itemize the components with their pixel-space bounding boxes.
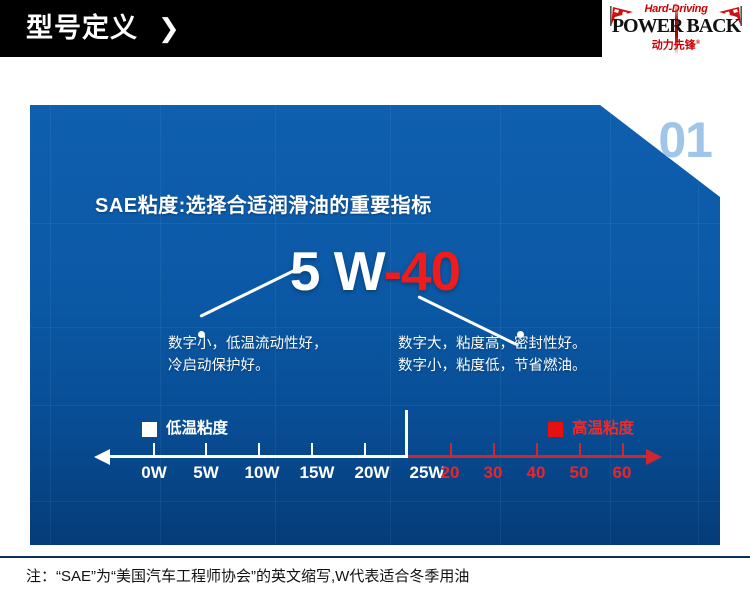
- axis-tick-label: 30: [484, 463, 503, 483]
- description-line: 冷启动保护好。: [168, 355, 328, 377]
- grid-line: [30, 405, 720, 406]
- logo-brand-name: POWER BACK: [602, 15, 750, 37]
- legend-label: 高温粘度: [572, 420, 634, 438]
- axis-tick: [579, 443, 581, 457]
- axis-tick-label: 40: [527, 463, 546, 483]
- description-low-temp: 数字小，低温流动性好， 冷启动保护好。: [168, 333, 328, 377]
- registered-mark-icon: ®: [696, 40, 700, 46]
- logo-tagline: Hard-Driving: [602, 3, 750, 15]
- arrow-left-icon: [94, 449, 110, 465]
- grid-line: [30, 327, 720, 328]
- panel-heading: SAE粘度:选择合适润滑油的重要指标: [95, 193, 432, 219]
- arrow-right-icon: [646, 449, 662, 465]
- brand-logo: Hard-Driving POWER BACK 动力先锋®: [602, 0, 750, 57]
- oil-grade-display: 5 W-40: [30, 240, 720, 302]
- axis-tick-label: 15W: [300, 463, 335, 483]
- legend-swatch-icon: [548, 422, 563, 437]
- logo-brand-name-cn: 动力先锋®: [602, 37, 750, 53]
- info-panel: 01 SAE粘度:选择合适润滑油的重要指标 5 W-40 数字小，低温流动性好，…: [30, 105, 720, 545]
- axis-tick: [536, 443, 538, 457]
- legend-swatch-icon: [142, 422, 157, 437]
- logo-brand-cn-text: 动力先锋: [652, 40, 696, 52]
- axis-tick-label: 20W: [355, 463, 390, 483]
- grade-hot-part: -40: [384, 240, 461, 302]
- legend-label: 低温粘度: [166, 420, 228, 438]
- legend-high-temp-viscosity: 高温粘度: [548, 420, 634, 438]
- axis-tick-label: 50: [570, 463, 589, 483]
- footer-note: 注：“SAE”为“美国汽车工程师协会”的英文缩写,W代表适合冬季用油: [26, 566, 469, 588]
- axis-tick-label: 60: [613, 463, 632, 483]
- axis-tick-label: 25W: [410, 463, 445, 483]
- section-number-watermark: 01: [658, 114, 712, 166]
- axis-tick: [450, 443, 452, 457]
- grid-line: [30, 501, 720, 502]
- axis-tick: [153, 443, 155, 457]
- axis-tick-label: 20: [441, 463, 460, 483]
- grade-cold-part: 5 W: [290, 240, 384, 302]
- description-line: 数字小，粘度低，节省燃油。: [398, 355, 587, 377]
- grid-line: [390, 105, 391, 545]
- axis-tick-label: 5W: [193, 463, 219, 483]
- axis-tick: [311, 443, 313, 457]
- axis-tick: [405, 443, 407, 457]
- page-title: 型号定义: [26, 11, 138, 45]
- axis-tick: [258, 443, 260, 457]
- axis-tick: [622, 443, 624, 457]
- grid-line: [50, 105, 51, 545]
- description-line: 数字小，低温流动性好，: [168, 333, 328, 355]
- grid-line: [30, 223, 720, 224]
- axis-tick: [493, 443, 495, 457]
- legend-low-temp-viscosity: 低温粘度: [142, 420, 228, 438]
- grid-line: [610, 105, 611, 545]
- axis-tick: [205, 443, 207, 457]
- footer-divider: [0, 556, 750, 558]
- description-line: 数字大，粘度高，密封性好。: [398, 333, 587, 355]
- axis-tick: [364, 443, 366, 457]
- axis-line-high-temp: [408, 455, 650, 458]
- axis-tick-label: 0W: [141, 463, 167, 483]
- axis-tick-label: 10W: [245, 463, 280, 483]
- chevron-right-icon: ❯: [158, 12, 180, 44]
- description-high-temp: 数字大，粘度高，密封性好。 数字小，粘度低，节省燃油。: [398, 333, 587, 377]
